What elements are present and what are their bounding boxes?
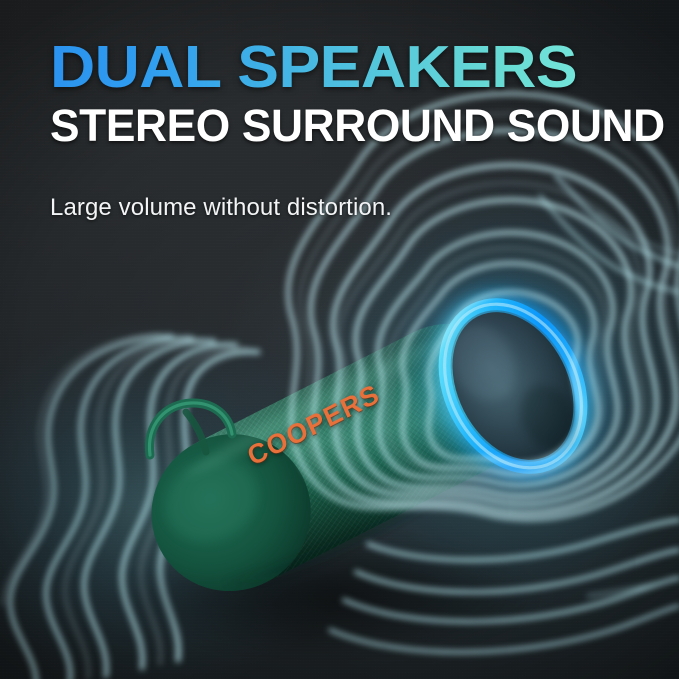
- headline: DUAL SPEAKERS: [50, 38, 679, 97]
- product-banner: COOPERS DUAL SPEAKERS STEREO SURROUND SO…: [0, 0, 679, 679]
- subheadline: STEREO SURROUND SOUND: [50, 103, 641, 148]
- marketing-copy: DUAL SPEAKERS STEREO SURROUND SOUND Larg…: [50, 38, 650, 222]
- tagline: Large volume without distortion.: [50, 194, 650, 222]
